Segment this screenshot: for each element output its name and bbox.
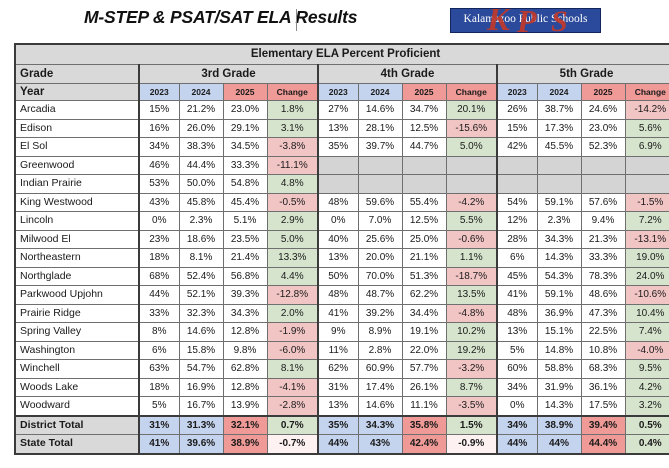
- cell-g4-change: 1.1%: [446, 249, 497, 268]
- cell-g3-change: 4.8%: [267, 175, 318, 194]
- table-row: El Sol34%38.3%34.5%-3.8%35%39.7%44.7%5.0…: [15, 138, 669, 157]
- cell-g4-change: -4.2%: [446, 193, 497, 212]
- cell-g5-2025: 44.4%: [581, 435, 625, 454]
- cell-g5-2024: 31.9%: [537, 378, 581, 397]
- cell-g3-2024: 26.0%: [179, 119, 223, 138]
- cell-g3-2025: 12.8%: [223, 378, 267, 397]
- row-label: King Westwood: [15, 193, 139, 212]
- cell-g3-change: 2.0%: [267, 304, 318, 323]
- cell-g3-2025: 23.5%: [223, 230, 267, 249]
- cell-g5-2023: 45%: [497, 267, 537, 286]
- cell-g5-2023: 48%: [497, 304, 537, 323]
- cell-g4-2025: 11.1%: [402, 397, 446, 416]
- cell-g3-2024: 16.7%: [179, 397, 223, 416]
- cell-g3-2024: 15.8%: [179, 341, 223, 360]
- cell-g4-2024: [358, 156, 402, 175]
- year-header-3rd-2025: 2025: [223, 84, 267, 101]
- cell-g4-2023: [318, 175, 358, 194]
- cell-g5-change: 7.2%: [625, 212, 669, 231]
- cell-g5-change: 0.4%: [625, 435, 669, 454]
- cell-g4-2025: 55.4%: [402, 193, 446, 212]
- row-label: Northeastern: [15, 249, 139, 268]
- group-header-3rd-grade: 3rd Grade: [139, 65, 318, 84]
- cell-g5-2023: 34%: [497, 378, 537, 397]
- cell-g5-2024: 44%: [537, 435, 581, 454]
- cell-g4-change: -4.8%: [446, 304, 497, 323]
- cell-g4-change: [446, 175, 497, 194]
- cell-g4-2024: 39.2%: [358, 304, 402, 323]
- cell-g5-change: -10.6%: [625, 286, 669, 305]
- table-row: Woods Lake18%16.9%12.8%-4.1%31%17.4%26.1…: [15, 378, 669, 397]
- table-row: Milwood El23%18.6%23.5%5.0%40%25.6%25.0%…: [15, 230, 669, 249]
- cell-g3-2025: 34.3%: [223, 304, 267, 323]
- cell-g4-2023: 9%: [318, 323, 358, 342]
- cell-g5-2023: 6%: [497, 249, 537, 268]
- cell-g5-2025: 52.3%: [581, 138, 625, 157]
- cell-g3-change: -12.8%: [267, 286, 318, 305]
- cell-g5-change: -4.0%: [625, 341, 669, 360]
- cell-g5-2025: 24.6%: [581, 101, 625, 120]
- cell-g3-change: -11.1%: [267, 156, 318, 175]
- cell-g3-2025: 39.3%: [223, 286, 267, 305]
- cell-g5-2024: 15.1%: [537, 323, 581, 342]
- cell-g5-2025: 22.5%: [581, 323, 625, 342]
- cell-g3-change: -0.5%: [267, 193, 318, 212]
- cell-g3-2025: 54.8%: [223, 175, 267, 194]
- cell-g4-2025: [402, 156, 446, 175]
- row-label: Spring Valley: [15, 323, 139, 342]
- cell-g4-2023: 48%: [318, 286, 358, 305]
- cell-g5-2025: 33.3%: [581, 249, 625, 268]
- cell-g3-change: 2.9%: [267, 212, 318, 231]
- cell-g5-change: 0.5%: [625, 416, 669, 435]
- cell-g3-change: -1.9%: [267, 323, 318, 342]
- cell-g4-2024: 28.1%: [358, 119, 402, 138]
- cell-g4-2025: 12.5%: [402, 212, 446, 231]
- cell-g3-2023: 68%: [139, 267, 179, 286]
- row-label: Greenwood: [15, 156, 139, 175]
- table-row: Lincoln0%2.3%5.1%2.9%0%7.0%12.5%5.5%12%2…: [15, 212, 669, 231]
- cell-g4-2023: 31%: [318, 378, 358, 397]
- cell-g5-2023: 12%: [497, 212, 537, 231]
- cell-g5-2025: 47.3%: [581, 304, 625, 323]
- cell-g5-2024: 2.3%: [537, 212, 581, 231]
- cell-g3-change: -0.7%: [267, 435, 318, 454]
- year-header-5th-change: Change: [625, 84, 669, 101]
- page-header: M-STEP & PSAT/SAT ELA Results Kalamazoo …: [0, 0, 669, 42]
- cell-g4-2025: 42.4%: [402, 435, 446, 454]
- cell-g5-change: 7.4%: [625, 323, 669, 342]
- row-label: Indian Prairie: [15, 175, 139, 194]
- cell-g5-2024: 17.3%: [537, 119, 581, 138]
- table-row: Spring Valley8%14.6%12.8%-1.9%9%8.9%19.1…: [15, 323, 669, 342]
- cell-g4-2023: 11%: [318, 341, 358, 360]
- cell-g5-change: [625, 175, 669, 194]
- cell-g4-2024: 59.6%: [358, 193, 402, 212]
- cell-g5-2025: 21.3%: [581, 230, 625, 249]
- cell-g4-2024: 70.0%: [358, 267, 402, 286]
- table-row: King Westwood43%45.8%45.4%-0.5%48%59.6%5…: [15, 193, 669, 212]
- cell-g4-2023: 13%: [318, 397, 358, 416]
- cell-g4-2025: 44.7%: [402, 138, 446, 157]
- cell-g4-2024: 17.4%: [358, 378, 402, 397]
- table-row: District Total31%31.3%32.1%0.7%35%34.3%3…: [15, 416, 669, 435]
- cell-g3-2023: 6%: [139, 341, 179, 360]
- cell-g5-change: 24.0%: [625, 267, 669, 286]
- cell-g4-change: -3.2%: [446, 360, 497, 379]
- cell-g5-2024: 58.8%: [537, 360, 581, 379]
- cell-g3-2024: 21.2%: [179, 101, 223, 120]
- cell-g3-change: 5.0%: [267, 230, 318, 249]
- cell-g3-2023: 46%: [139, 156, 179, 175]
- cell-g4-2024: 34.3%: [358, 416, 402, 435]
- text-cursor: [296, 9, 297, 31]
- cell-g4-change: -15.6%: [446, 119, 497, 138]
- cell-g4-2023: 0%: [318, 212, 358, 231]
- cell-g4-2025: 35.8%: [402, 416, 446, 435]
- cell-g5-2024: [537, 175, 581, 194]
- cell-g3-2025: 34.5%: [223, 138, 267, 157]
- cell-g4-2025: 25.0%: [402, 230, 446, 249]
- row-label: Northglade: [15, 267, 139, 286]
- year-header-4th-2023: 2023: [318, 84, 358, 101]
- cell-g3-2025: 29.1%: [223, 119, 267, 138]
- cell-g5-2023: 42%: [497, 138, 537, 157]
- row-label: Lincoln: [15, 212, 139, 231]
- row-label: Prairie Ridge: [15, 304, 139, 323]
- table-row: Indian Prairie53%50.0%54.8%4.8%: [15, 175, 669, 194]
- cell-g5-2023: 44%: [497, 435, 537, 454]
- cell-g3-2023: 0%: [139, 212, 179, 231]
- cell-g5-2023: 5%: [497, 341, 537, 360]
- cell-g3-2024: 14.6%: [179, 323, 223, 342]
- cell-g5-2025: 9.4%: [581, 212, 625, 231]
- row-label: Arcadia: [15, 101, 139, 120]
- logo-letter-s: S: [551, 8, 568, 33]
- cell-g3-change: 3.1%: [267, 119, 318, 138]
- cell-g4-2024: [358, 175, 402, 194]
- table-row: Greenwood46%44.4%33.3%-11.1%: [15, 156, 669, 175]
- row-label: District Total: [15, 416, 139, 435]
- cell-g5-2023: 15%: [497, 119, 537, 138]
- cell-g3-2025: 38.9%: [223, 435, 267, 454]
- cell-g4-change: [446, 156, 497, 175]
- cell-g5-change: 6.9%: [625, 138, 669, 157]
- cell-g4-2024: 20.0%: [358, 249, 402, 268]
- year-header-4th-2024: 2024: [358, 84, 402, 101]
- cell-g3-2024: 54.7%: [179, 360, 223, 379]
- cell-g3-2025: 45.4%: [223, 193, 267, 212]
- cell-g3-2025: 32.1%: [223, 416, 267, 435]
- row-label: Winchell: [15, 360, 139, 379]
- row-label: Edison: [15, 119, 139, 138]
- cell-g5-2025: 10.8%: [581, 341, 625, 360]
- cell-g4-2024: 48.7%: [358, 286, 402, 305]
- cell-g5-2025: 78.3%: [581, 267, 625, 286]
- cell-g5-2025: 36.1%: [581, 378, 625, 397]
- cell-g4-2025: 26.1%: [402, 378, 446, 397]
- cell-g5-2023: 60%: [497, 360, 537, 379]
- cell-g4-change: -18.7%: [446, 267, 497, 286]
- cell-g3-2024: 39.6%: [179, 435, 223, 454]
- cell-g5-2023: 34%: [497, 416, 537, 435]
- cell-g4-2025: 34.7%: [402, 101, 446, 120]
- group-header-5th-grade: 5th Grade: [497, 65, 669, 84]
- year-header-5th-2025: 2025: [581, 84, 625, 101]
- table-row: State Total41%39.6%38.9%-0.7%44%43%42.4%…: [15, 435, 669, 454]
- ela-results-table: Elementary ELA Percent ProficientGrade3r…: [14, 43, 669, 455]
- cell-g3-2024: 2.3%: [179, 212, 223, 231]
- cell-g4-2025: 12.5%: [402, 119, 446, 138]
- cell-g3-2023: 41%: [139, 435, 179, 454]
- cell-g3-2023: 43%: [139, 193, 179, 212]
- cell-g4-2024: 43%: [358, 435, 402, 454]
- cell-g5-2025: 57.6%: [581, 193, 625, 212]
- cell-g4-2023: 50%: [318, 267, 358, 286]
- cell-g3-2023: 23%: [139, 230, 179, 249]
- cell-g3-2025: 23.0%: [223, 101, 267, 120]
- cell-g5-2024: 38.7%: [537, 101, 581, 120]
- cell-g3-2023: 31%: [139, 416, 179, 435]
- column-header-year: Year: [15, 84, 139, 101]
- row-label: Woods Lake: [15, 378, 139, 397]
- table-row: Northeastern18%8.1%21.4%13.3%13%20.0%21.…: [15, 249, 669, 268]
- cell-g5-2023: [497, 156, 537, 175]
- year-header-row: Year202320242025Change202320242025Change…: [15, 84, 669, 101]
- table-row: Washington6%15.8%9.8%-6.0%11%2.8%22.0%19…: [15, 341, 669, 360]
- cell-g5-2024: 38.9%: [537, 416, 581, 435]
- cell-g3-change: 13.3%: [267, 249, 318, 268]
- cell-g4-change: -3.5%: [446, 397, 497, 416]
- cell-g4-2023: 35%: [318, 416, 358, 435]
- cell-g5-2025: 23.0%: [581, 119, 625, 138]
- cell-g5-2024: 14.8%: [537, 341, 581, 360]
- cell-g5-change: 5.6%: [625, 119, 669, 138]
- cell-g4-2025: 21.1%: [402, 249, 446, 268]
- cell-g4-2024: 7.0%: [358, 212, 402, 231]
- cell-g3-2023: 5%: [139, 397, 179, 416]
- cell-g3-2023: 53%: [139, 175, 179, 194]
- cell-g3-2024: 50.0%: [179, 175, 223, 194]
- cell-g3-2024: 31.3%: [179, 416, 223, 435]
- cell-g5-2023: 0%: [497, 397, 537, 416]
- cell-g5-2024: 45.5%: [537, 138, 581, 157]
- cell-g5-2023: [497, 175, 537, 194]
- cell-g4-change: 5.5%: [446, 212, 497, 231]
- cell-g4-2025: 57.7%: [402, 360, 446, 379]
- cell-g4-2023: 48%: [318, 193, 358, 212]
- cell-g4-change: 10.2%: [446, 323, 497, 342]
- cell-g3-2023: 18%: [139, 249, 179, 268]
- table-row: Edison16%26.0%29.1%3.1%13%28.1%12.5%-15.…: [15, 119, 669, 138]
- cell-g4-2024: 39.7%: [358, 138, 402, 157]
- cell-g5-2024: [537, 156, 581, 175]
- logo-letter-k: K: [487, 8, 510, 33]
- cell-g3-2024: 8.1%: [179, 249, 223, 268]
- cell-g4-change: 19.2%: [446, 341, 497, 360]
- cell-g5-change: 4.2%: [625, 378, 669, 397]
- cell-g3-2025: 5.1%: [223, 212, 267, 231]
- cell-g5-2024: 36.9%: [537, 304, 581, 323]
- column-header-grade: Grade: [15, 65, 139, 84]
- cell-g3-2023: 18%: [139, 378, 179, 397]
- cell-g3-2023: 33%: [139, 304, 179, 323]
- row-label: Woodward: [15, 397, 139, 416]
- cell-g4-2024: 2.8%: [358, 341, 402, 360]
- table-row: Northglade68%52.4%56.8%4.4%50%70.0%51.3%…: [15, 267, 669, 286]
- cell-g5-change: 19.0%: [625, 249, 669, 268]
- cell-g4-2023: 40%: [318, 230, 358, 249]
- cell-g3-2024: 52.4%: [179, 267, 223, 286]
- cell-g5-change: [625, 156, 669, 175]
- row-label: Washington: [15, 341, 139, 360]
- table-row: Prairie Ridge33%32.3%34.3%2.0%41%39.2%34…: [15, 304, 669, 323]
- cell-g5-change: 10.4%: [625, 304, 669, 323]
- cell-g5-change: -14.2%: [625, 101, 669, 120]
- cell-g5-change: -13.1%: [625, 230, 669, 249]
- cell-g3-change: 4.4%: [267, 267, 318, 286]
- cell-g3-2023: 34%: [139, 138, 179, 157]
- cell-g4-2023: 27%: [318, 101, 358, 120]
- cell-g5-2024: 59.1%: [537, 286, 581, 305]
- cell-g4-2023: 13%: [318, 249, 358, 268]
- row-label: Milwood El: [15, 230, 139, 249]
- cell-g3-change: -4.1%: [267, 378, 318, 397]
- cell-g4-2023: 41%: [318, 304, 358, 323]
- cell-g5-2025: 48.6%: [581, 286, 625, 305]
- cell-g3-2023: 8%: [139, 323, 179, 342]
- year-header-3rd-change: Change: [267, 84, 318, 101]
- cell-g5-2024: 54.3%: [537, 267, 581, 286]
- table-banner-row: Elementary ELA Percent Proficient: [15, 44, 669, 65]
- cell-g4-2023: 62%: [318, 360, 358, 379]
- cell-g4-2023: [318, 156, 358, 175]
- cell-g3-2024: 38.3%: [179, 138, 223, 157]
- cell-g4-change: 20.1%: [446, 101, 497, 120]
- grade-group-header-row: Grade3rd Grade4th Grade5th Grade: [15, 65, 669, 84]
- cell-g3-change: 0.7%: [267, 416, 318, 435]
- cell-g3-2023: 16%: [139, 119, 179, 138]
- cell-g4-change: -0.6%: [446, 230, 497, 249]
- cell-g4-change: 5.0%: [446, 138, 497, 157]
- cell-g4-change: 8.7%: [446, 378, 497, 397]
- logo-letter-p: P: [517, 8, 537, 33]
- year-header-5th-2024: 2024: [537, 84, 581, 101]
- cell-g4-2024: 14.6%: [358, 101, 402, 120]
- group-header-4th-grade: 4th Grade: [318, 65, 497, 84]
- cell-g3-2025: 56.8%: [223, 267, 267, 286]
- cell-g3-2023: 15%: [139, 101, 179, 120]
- row-label: El Sol: [15, 138, 139, 157]
- cell-g3-2025: 21.4%: [223, 249, 267, 268]
- table-banner-title: Elementary ELA Percent Proficient: [15, 44, 669, 65]
- table-body: Elementary ELA Percent ProficientGrade3r…: [15, 44, 669, 454]
- cell-g3-2023: 44%: [139, 286, 179, 305]
- table-row: Woodward5%16.7%13.9%-2.8%13%14.6%11.1%-3…: [15, 397, 669, 416]
- cell-g4-2025: 51.3%: [402, 267, 446, 286]
- cell-g3-2024: 16.9%: [179, 378, 223, 397]
- cell-g3-2025: 62.8%: [223, 360, 267, 379]
- cell-g5-2025: 39.4%: [581, 416, 625, 435]
- results-table-container: Elementary ELA Percent ProficientGrade3r…: [14, 43, 655, 455]
- cell-g3-2024: 32.3%: [179, 304, 223, 323]
- cell-g3-2025: 33.3%: [223, 156, 267, 175]
- cell-g3-2025: 13.9%: [223, 397, 267, 416]
- cell-g5-2023: 28%: [497, 230, 537, 249]
- cell-g5-change: -1.5%: [625, 193, 669, 212]
- cell-g4-2023: 35%: [318, 138, 358, 157]
- row-label: State Total: [15, 435, 139, 454]
- cell-g3-change: -6.0%: [267, 341, 318, 360]
- cell-g5-2024: 59.1%: [537, 193, 581, 212]
- cell-g5-2023: 41%: [497, 286, 537, 305]
- cell-g3-2024: 18.6%: [179, 230, 223, 249]
- cell-g5-change: 9.5%: [625, 360, 669, 379]
- cell-g4-2024: 60.9%: [358, 360, 402, 379]
- cell-g4-change: 1.5%: [446, 416, 497, 435]
- cell-g3-2023: 63%: [139, 360, 179, 379]
- cell-g3-2025: 9.8%: [223, 341, 267, 360]
- cell-g4-2024: 25.6%: [358, 230, 402, 249]
- year-header-3rd-2024: 2024: [179, 84, 223, 101]
- cell-g3-2024: 52.1%: [179, 286, 223, 305]
- table-row: Parkwood Upjohn44%52.1%39.3%-12.8%48%48.…: [15, 286, 669, 305]
- cell-g4-change: -0.9%: [446, 435, 497, 454]
- cell-g3-2025: 12.8%: [223, 323, 267, 342]
- cell-g4-2023: 13%: [318, 119, 358, 138]
- cell-g4-2025: [402, 175, 446, 194]
- cell-g3-change: 1.8%: [267, 101, 318, 120]
- cell-g5-2025: [581, 156, 625, 175]
- cell-g4-2023: 44%: [318, 435, 358, 454]
- cell-g3-2024: 44.4%: [179, 156, 223, 175]
- cell-g3-2024: 45.8%: [179, 193, 223, 212]
- table-row: Winchell63%54.7%62.8%8.1%62%60.9%57.7%-3…: [15, 360, 669, 379]
- cell-g4-2025: 34.4%: [402, 304, 446, 323]
- page-title: M-STEP & PSAT/SAT ELA Results: [84, 7, 357, 28]
- cell-g5-2025: 17.5%: [581, 397, 625, 416]
- year-header-5th-2023: 2023: [497, 84, 537, 101]
- cell-g5-2025: [581, 175, 625, 194]
- year-header-3rd-2023: 2023: [139, 84, 179, 101]
- cell-g4-2025: 62.2%: [402, 286, 446, 305]
- cell-g5-2024: 14.3%: [537, 249, 581, 268]
- cell-g4-2024: 14.6%: [358, 397, 402, 416]
- row-label: Parkwood Upjohn: [15, 286, 139, 305]
- cell-g5-2023: 26%: [497, 101, 537, 120]
- cell-g5-2023: 13%: [497, 323, 537, 342]
- year-header-4th-2025: 2025: [402, 84, 446, 101]
- year-header-4th-change: Change: [446, 84, 497, 101]
- cell-g3-change: -3.8%: [267, 138, 318, 157]
- cell-g4-2024: 8.9%: [358, 323, 402, 342]
- table-row: Arcadia15%21.2%23.0%1.8%27%14.6%34.7%20.…: [15, 101, 669, 120]
- kalamazoo-public-schools-logo: Kalamazoo Public Schools K P S: [450, 8, 601, 33]
- cell-g5-2025: 68.3%: [581, 360, 625, 379]
- cell-g5-2024: 14.3%: [537, 397, 581, 416]
- cell-g3-change: -2.8%: [267, 397, 318, 416]
- cell-g3-change: 8.1%: [267, 360, 318, 379]
- cell-g5-2023: 54%: [497, 193, 537, 212]
- cell-g5-2024: 34.3%: [537, 230, 581, 249]
- cell-g4-change: 13.5%: [446, 286, 497, 305]
- cell-g5-change: 3.2%: [625, 397, 669, 416]
- cell-g4-2025: 19.1%: [402, 323, 446, 342]
- cell-g4-2025: 22.0%: [402, 341, 446, 360]
